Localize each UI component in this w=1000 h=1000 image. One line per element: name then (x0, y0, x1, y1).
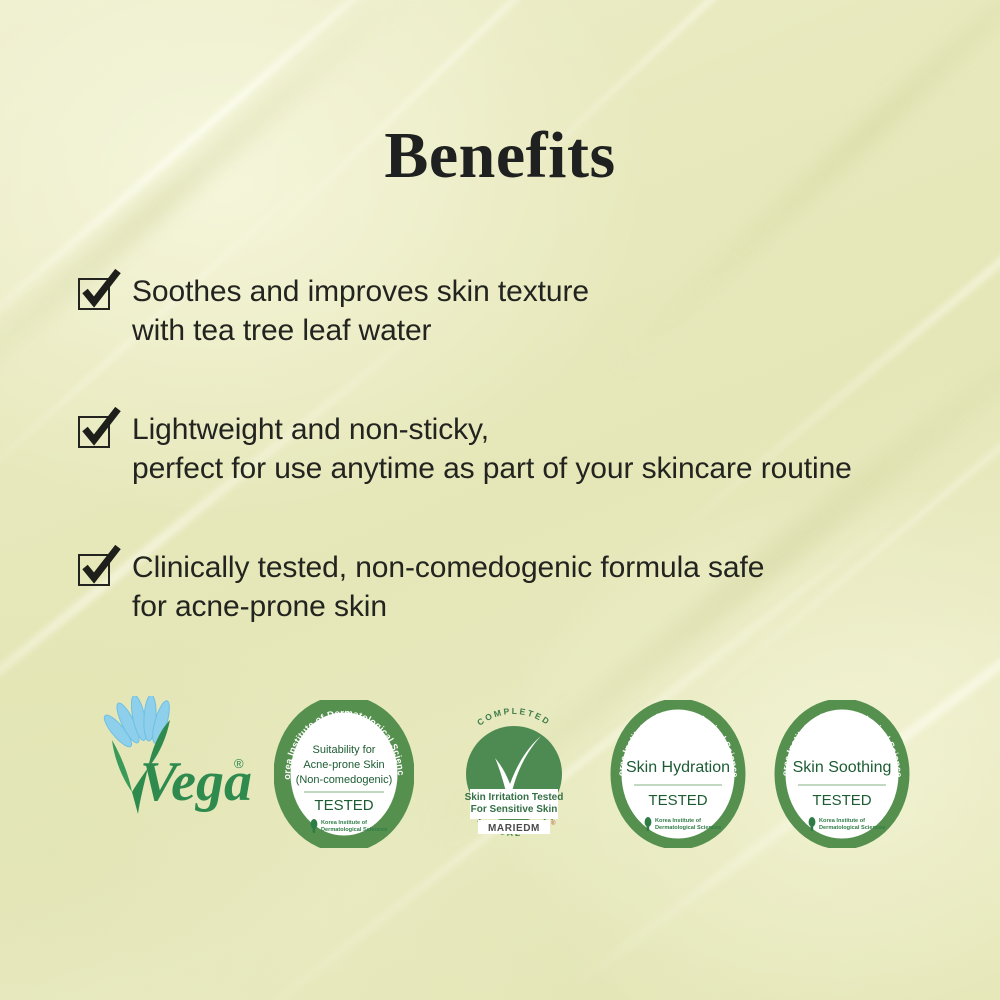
badge-line: For Sensitive Skin (471, 804, 558, 815)
badge-footer-line: Korea Institute of (819, 818, 865, 824)
badge-line: Acne-prone Skin (303, 759, 384, 771)
page-title: Benefits (0, 118, 1000, 194)
benefit-item: Lightweight and non-sticky, perfect for … (78, 410, 958, 488)
badge-skin-soothing: Korea Institute of Dermatological Scienc… (772, 700, 912, 848)
vegan-logo: Vegan ® (82, 696, 252, 846)
badge-footer-line: Dermatological Sciences (321, 827, 387, 833)
badge-skin-irritation-sensitive: COMPLETED CLINICAL TRIAL Skin Irritation… (440, 696, 588, 848)
benefits-page: Benefits Soothes and improves skin textu… (0, 0, 1000, 1000)
checkbox-checked-icon (78, 278, 110, 310)
badge-status: TESTED (812, 792, 871, 809)
badge-status: TESTED (648, 792, 707, 809)
benefit-text: Clinically tested, non-comedogenic formu… (132, 548, 764, 626)
badge-line: Suitability for (313, 744, 376, 756)
badge-footer-line: Dermatological Sciences (655, 825, 721, 831)
benefit-text: Lightweight and non-sticky, perfect for … (132, 410, 852, 488)
benefit-text: Soothes and improves skin texture with t… (132, 272, 589, 350)
benefit-item: Clinically tested, non-comedogenic formu… (78, 548, 958, 626)
badge-status: TESTED (314, 797, 373, 814)
badge-line: Skin Irritation Tested (465, 792, 564, 803)
badge-skin-hydration: Korea Institute of Dermatological Scienc… (608, 700, 748, 848)
benefits-list: Soothes and improves skin texture with t… (78, 272, 958, 626)
badge-line: (Non-comedogenic) (296, 774, 393, 786)
badge-brand-mark: ® (551, 820, 556, 827)
registered-mark: ® (234, 756, 244, 771)
benefit-item: Soothes and improves skin texture with t… (78, 272, 958, 350)
badge-brand: MARIEDM (488, 823, 540, 834)
badge-acne-prone-suitability: Korea Institute of Dermatological Scienc… (274, 700, 414, 848)
badge-footer-line: Korea Institute of (321, 820, 367, 826)
badge-ring-text-top: COMPLETED (475, 706, 553, 728)
checkbox-checked-icon (78, 416, 110, 448)
badge-footer-line: Dermatological Sciences (819, 825, 885, 831)
certification-row: Vegan ® Korea Institute of Dermatologica… (0, 688, 1000, 858)
badge-line: Skin Hydration (626, 759, 730, 776)
badge-footer-line: Korea Institute of (655, 818, 701, 824)
checkbox-checked-icon (78, 554, 110, 586)
badge-line: Skin Soothing (793, 759, 892, 776)
